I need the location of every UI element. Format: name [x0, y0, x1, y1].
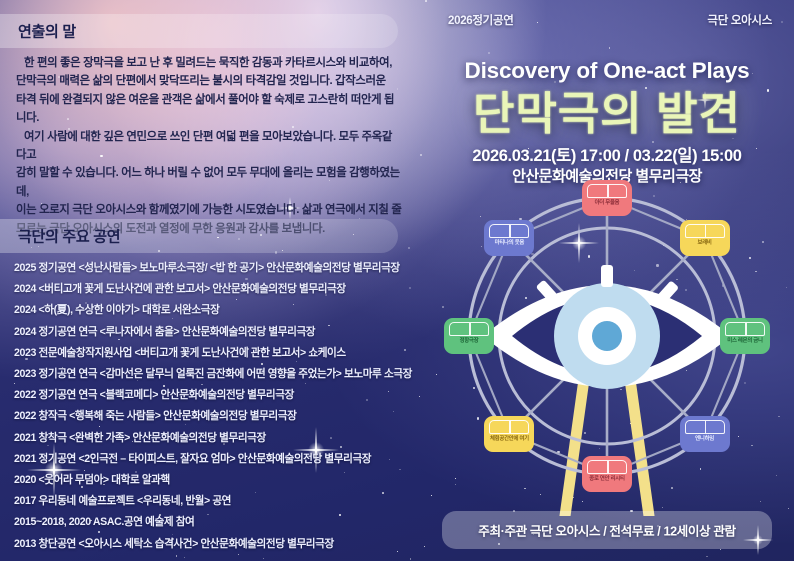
work-list-item: 2021 창착극 <완벽한 가족> 안산문화예술의전당 별무리극장	[14, 428, 414, 449]
cabin-window-divider	[469, 323, 471, 335]
cabin-window	[685, 420, 725, 434]
wheel-cabin[interactable]: 보래비	[680, 220, 730, 256]
cabin-body: 엔니하임	[680, 416, 730, 452]
cabin-window	[489, 224, 529, 238]
wheel-cabin[interactable]: 미스 레몬의 금니	[720, 318, 770, 354]
cabin-body: 마티나의 웃음	[484, 220, 534, 256]
cabin-window-divider	[705, 225, 707, 237]
director-section-header: 연출의 말	[0, 14, 398, 48]
work-list-item: 2020 <웃어라 무덤아> 대학로 알과핵	[14, 470, 414, 491]
cabin-body: 미스 레몬의 금니	[720, 318, 770, 354]
work-list-item: 2024 <하(夏), 수상한 이야기> 대학로 서완소극장	[14, 300, 414, 321]
director-paragraph: 한 편의 좋은 장막극을 보고 난 후 밀려드는 묵직한 감동과 카타르시스와 …	[16, 54, 402, 72]
cabin-body: 종로 연안 리시티	[582, 456, 632, 492]
work-list-item: 2023 전문예술창작지원사업 <버티고개 꽃게 도난사건에 관한 보고서> 쇼…	[14, 343, 414, 364]
eye-pupil	[592, 321, 622, 351]
director-message-body: 한 편의 좋은 장막극을 보고 난 후 밀려드는 묵직한 감동과 카타르시스와 …	[16, 54, 402, 238]
works-section-header: 극단의 주요 공연	[0, 219, 398, 253]
work-list-item: 2024 <버티고개 꽃게 도난사건에 관한 보고서> 안산문화예술의전당 별무…	[14, 279, 414, 300]
work-list-item: 2022 정기공연 연극 <블랙코메디> 안산문화예술의전당 별무리극장	[14, 385, 414, 406]
company-name: 극단 오아시스	[707, 12, 772, 28]
work-list-item: 2022 창작극 <행복해 죽는 사람들> 안산문화예술의전당 별무리극장	[14, 406, 414, 427]
cabin-label: 체험공간안에 여기	[484, 437, 534, 442]
cabin-label: 엔니하임	[680, 437, 730, 442]
director-section-title: 연출의 말	[18, 21, 76, 42]
season-kicker: 2026정기공연	[448, 12, 514, 28]
work-list-item: 2021 정기공연 <2인극전 – 타이피스트, 잘자요 엄마> 안산문화예술의…	[14, 449, 414, 470]
director-paragraph: 단막극의 매력은 삶의 단편에서 맞닥뜨리는 불시의 타격감일 것입니다. 갑작…	[16, 72, 402, 90]
works-section-title: 극단의 주요 공연	[18, 226, 120, 247]
cabin-window	[449, 322, 489, 336]
performance-dates: 2026.03.21(토) 17:00 / 03.22(일) 15:00	[420, 142, 794, 166]
wheel-cabin[interactable]: 종로 연안 리시티	[582, 456, 632, 492]
cabin-label: 보래비	[680, 241, 730, 246]
right-column: 2026정기공연 극단 오아시스 Discovery of One-act Pl…	[420, 0, 794, 561]
work-list-item: 2017 우리동네 예술프로젝트 <우리동네, 반월> 공연	[14, 491, 414, 512]
cabin-body: 정항극장	[444, 318, 494, 354]
cabin-window	[587, 184, 627, 198]
cabin-label: 종로 연안 리시티	[582, 477, 632, 482]
work-list-item: 2024 정기공연 연극 <루나자에서 춤을> 안산문화예술의전당 별무리극장	[14, 322, 414, 343]
director-paragraph: 타격 뒤에 완결되지 않은 여운을 관객은 삶에서 풀어야 할 숙제로 고스란히…	[16, 91, 402, 128]
cabin-window-divider	[745, 323, 747, 335]
cabin-window-divider	[607, 461, 609, 473]
korean-title: 단막극의 발견	[420, 88, 794, 140]
cabin-body: 보래비	[680, 220, 730, 256]
work-list-item: 2015~2018, 2020 ASAC.공연 예술제 참여	[14, 512, 414, 533]
director-paragraph: 감히 말할 수 있습니다. 어느 하나 버릴 수 없어 모두 무대에 올리는 모…	[16, 164, 402, 201]
poster-root: 연출의 말 한 편의 좋은 장막극을 보고 난 후 밀려드는 묵직한 감동과 카…	[0, 0, 794, 561]
work-list-item: 2013 창단공연 <오아시스 세탁소 습격사건> 안산문화예술의전당 별무리극…	[14, 534, 414, 555]
cabin-window	[685, 224, 725, 238]
left-column: 연출의 말 한 편의 좋은 장막극을 보고 난 후 밀려드는 묵직한 감동과 카…	[0, 0, 420, 561]
wheel-cabin[interactable]: 정항극장	[444, 318, 494, 354]
cabin-label: 마티나의 웃음	[484, 241, 534, 246]
wheel-cabin[interactable]: 마티나의 웃음	[484, 220, 534, 256]
cabin-window	[587, 460, 627, 474]
wheel-cabin[interactable]: 아더 무울음	[582, 180, 632, 216]
cabin-window	[489, 420, 529, 434]
cabin-window	[725, 322, 765, 336]
ferris-wheel-eye-graphic: 아더 무울음보래비미스 레몬의 금니엔니하임종로 연안 리시티체험공간안에 여기…	[420, 186, 794, 516]
cabin-label: 미스 레몬의 금니	[720, 339, 770, 344]
cabin-label: 아더 무울음	[582, 201, 632, 206]
cabin-label: 정항극장	[444, 339, 494, 344]
footer-info-text: 주최·주관 극단 오아시스 / 전석무료 / 12세이상 관람	[442, 521, 772, 540]
wheel-cabin[interactable]: 체험공간안에 여기	[484, 416, 534, 452]
cabin-window-divider	[509, 421, 511, 433]
works-list: 2025 정기공연 <성난사람들> 보노마루소극장/ <밥 한 공기> 안산문화…	[14, 258, 414, 555]
cabin-body: 아더 무울음	[582, 180, 632, 216]
director-paragraph: 여기 사람에 대한 깊은 연민으로 쓰인 단편 여덟 편을 모아보았습니다. 모…	[16, 128, 402, 165]
wheel-cabin[interactable]: 엔니하임	[680, 416, 730, 452]
cabin-body: 체험공간안에 여기	[484, 416, 534, 452]
cabin-window-divider	[509, 225, 511, 237]
footer-info-bar: 주최·주관 극단 오아시스 / 전석무료 / 12세이상 관람	[442, 511, 772, 549]
cabin-window-divider	[607, 185, 609, 197]
work-list-item: 2025 정기공연 <성난사람들> 보노마루소극장/ <밥 한 공기> 안산문화…	[14, 258, 414, 279]
work-list-item: 2023 정기공연 연극 <감마선은 달무늬 얼룩진 금잔화에 어떤 영향을 주…	[14, 364, 414, 385]
director-paragraph: 이는 오로지 극단 오아시스와 함께였기에 가능한 시도였습니다. 삶과 연극에…	[16, 201, 402, 219]
english-title: Discovery of One-act Plays	[420, 58, 794, 84]
cabin-window-divider	[705, 421, 707, 433]
